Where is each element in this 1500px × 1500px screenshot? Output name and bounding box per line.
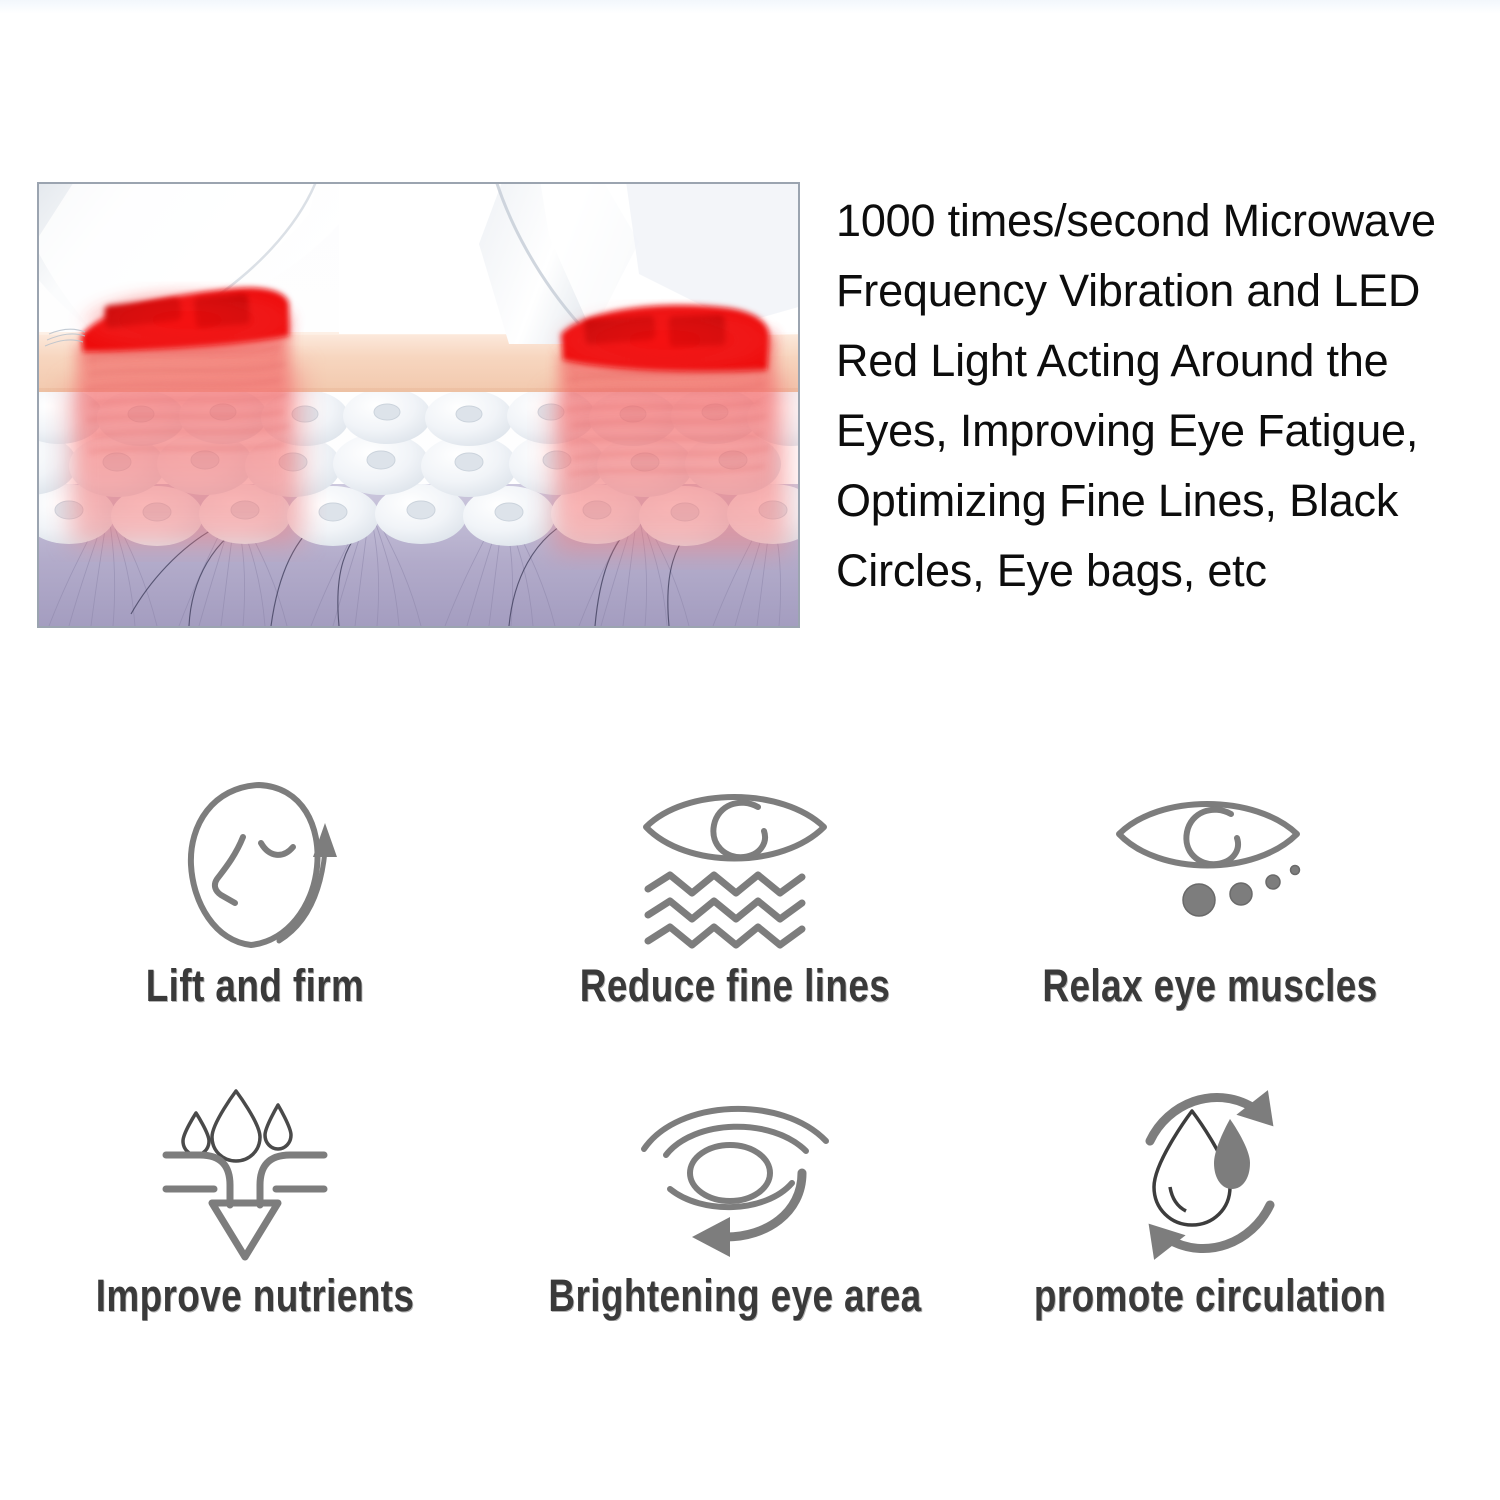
feature-relax-eye-muscles: Relax eye muscles — [975, 770, 1445, 1070]
feature-lift-and-firm: Lift and firm — [20, 770, 490, 1070]
feature-row-1: Lift and firm — [0, 770, 1500, 1070]
face-lift-arrow-icon — [20, 770, 490, 960]
top-edge-tint — [0, 0, 1500, 14]
feature-label: Brightening eye area — [542, 1270, 927, 1322]
eye-brighten-arrow-icon — [500, 1080, 970, 1270]
feature-label: promote circulation — [1017, 1270, 1402, 1322]
feature-label: Relax eye muscles — [1017, 960, 1402, 1012]
skin-cross-section-illustration — [37, 182, 800, 628]
feature-grid: Lift and firm — [0, 770, 1500, 1370]
product-description: 1000 times/second Microwave Frequency Vi… — [836, 186, 1476, 606]
feature-label: Reduce fine lines — [542, 960, 927, 1012]
feature-improve-nutrients: Improve nutrients — [20, 1080, 490, 1380]
droplets-absorb-arrow-icon — [20, 1080, 490, 1270]
droplet-circulation-icon — [975, 1080, 1445, 1270]
infographic-page: 1000 times/second Microwave Frequency Vi… — [0, 0, 1500, 1500]
feature-brightening-eye-area: Brightening eye area — [500, 1080, 970, 1380]
eye-wrinkle-lines-icon — [500, 770, 970, 960]
feature-label: Improve nutrients — [62, 1270, 447, 1322]
feature-promote-circulation: promote circulation — [975, 1080, 1445, 1380]
eye-relax-dots-icon — [975, 770, 1445, 960]
feature-row-2: Improve nutrients — [0, 1080, 1500, 1380]
feature-reduce-fine-lines: Reduce fine lines — [500, 770, 970, 1070]
feature-label: Lift and firm — [62, 960, 447, 1012]
skin-cross-section-svg — [39, 184, 798, 626]
